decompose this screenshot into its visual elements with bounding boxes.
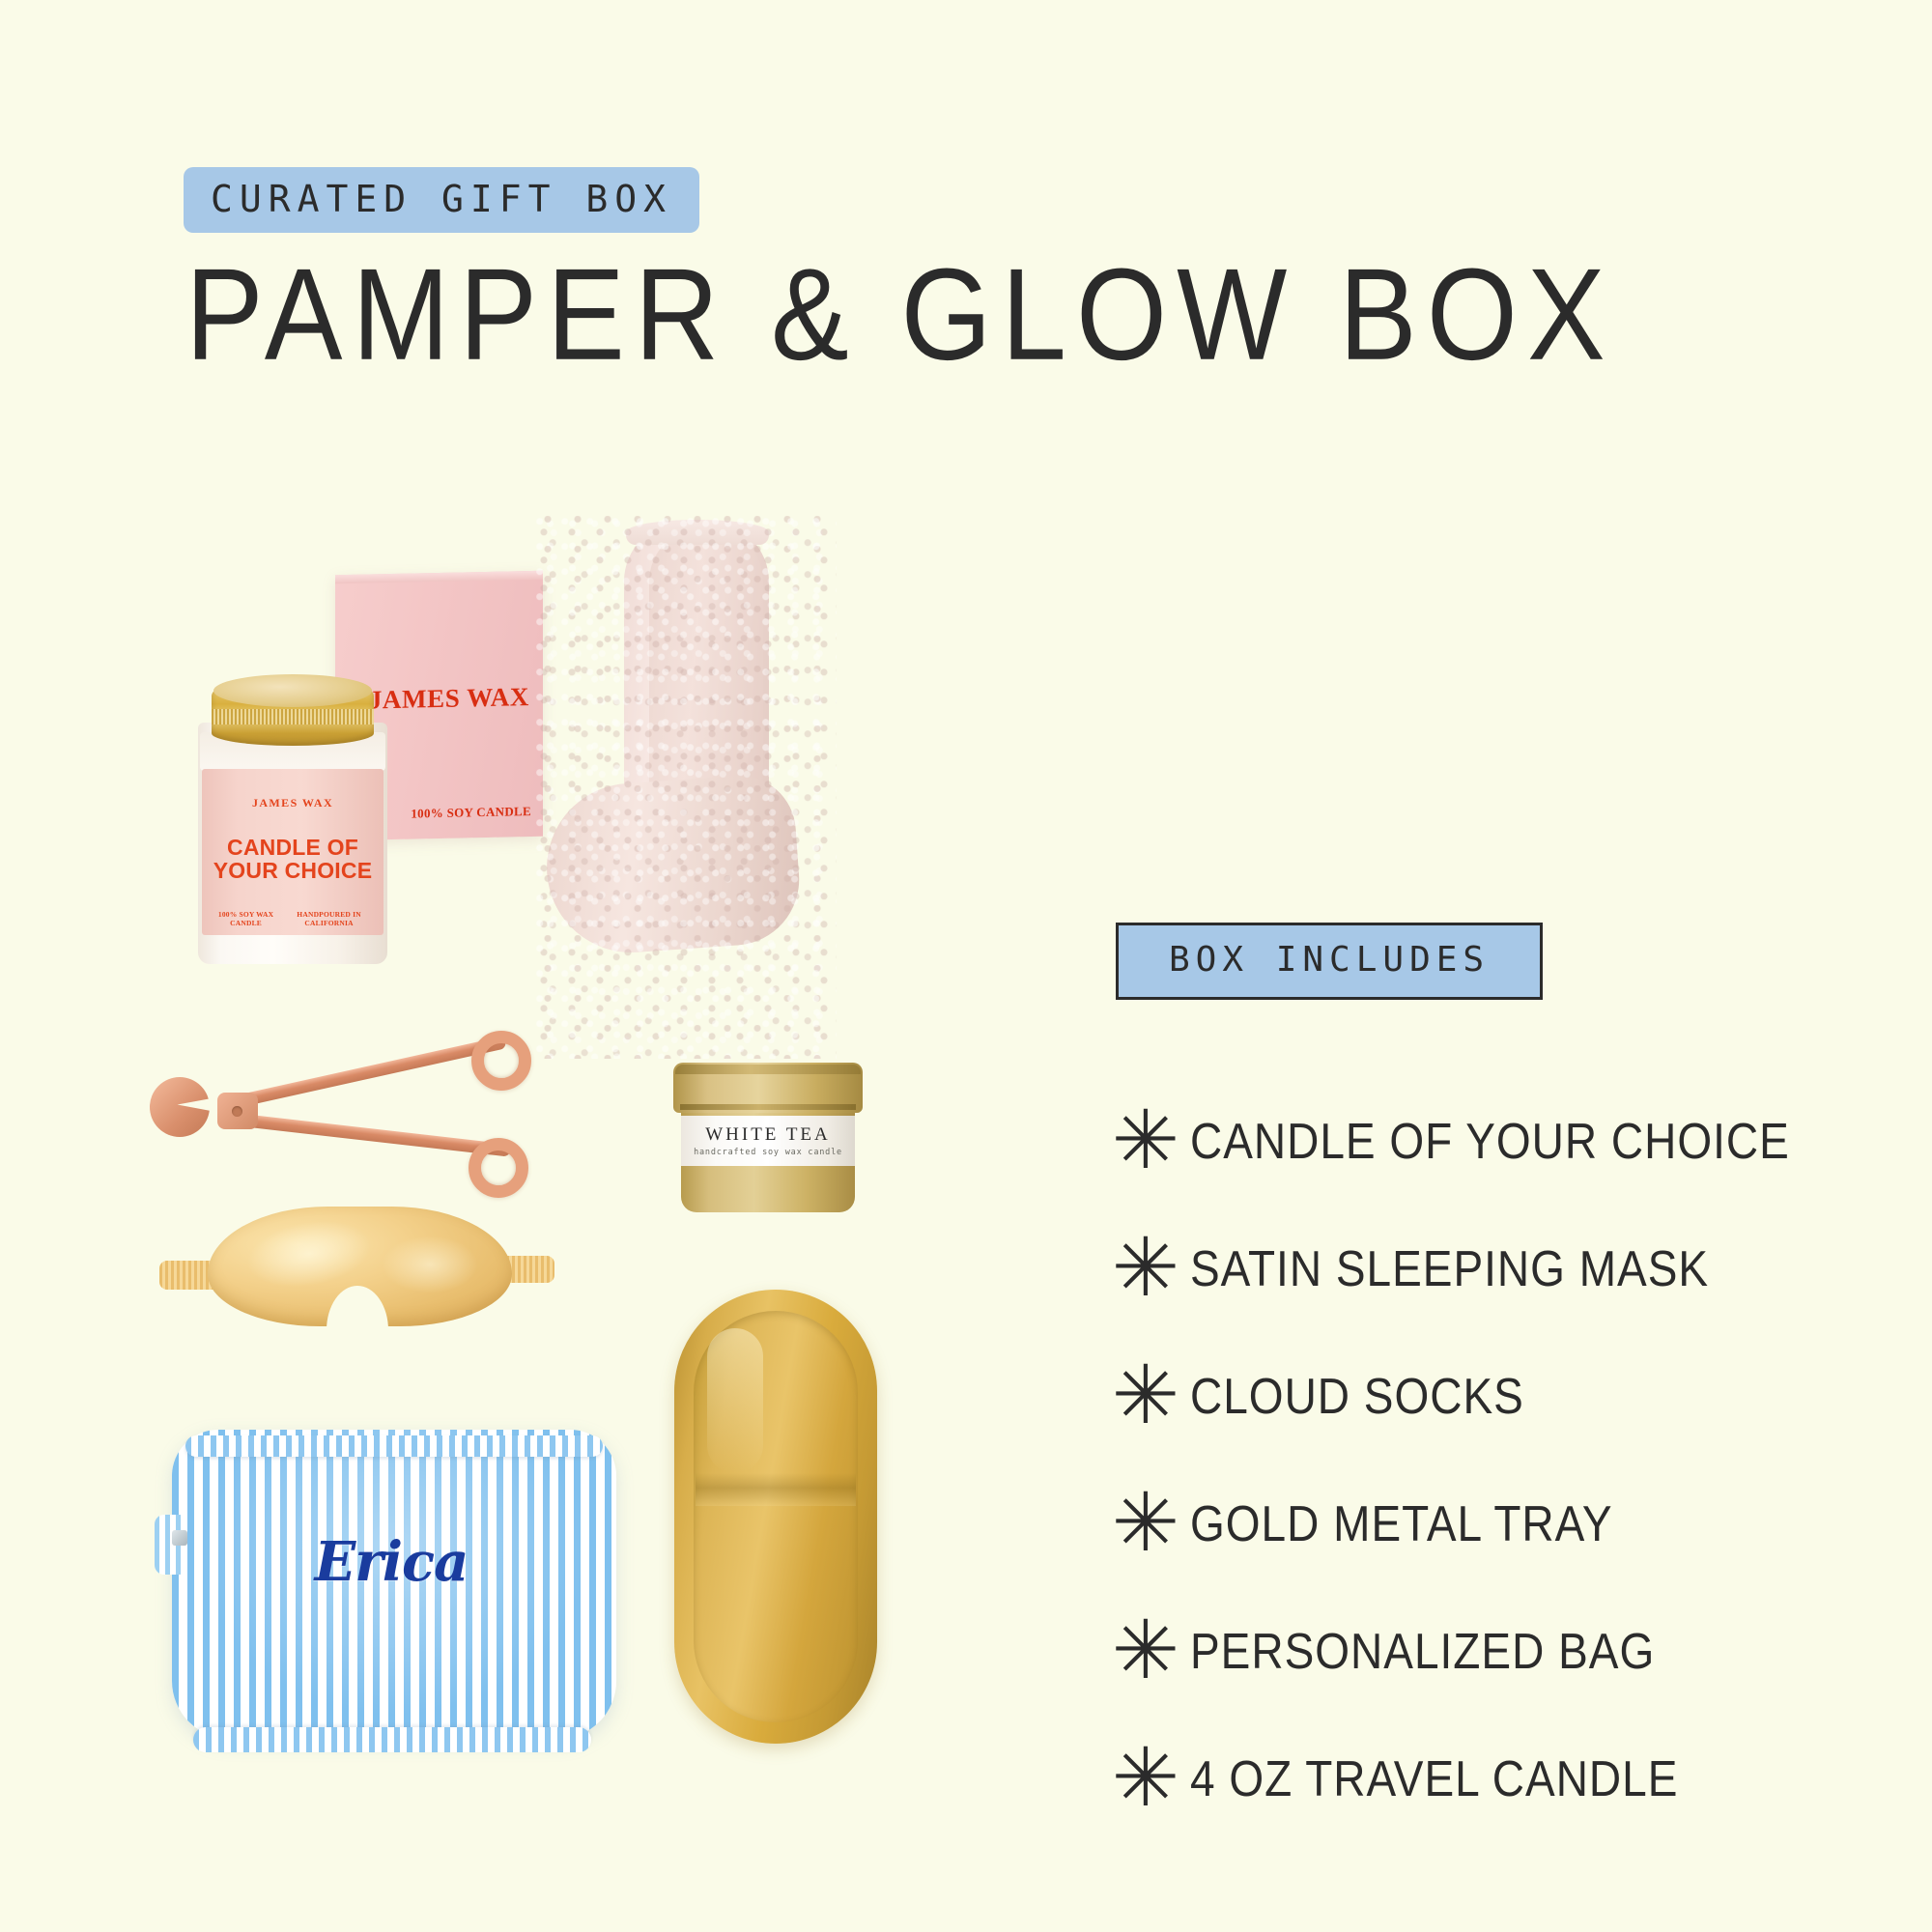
trimmer-pivot-screw bbox=[232, 1106, 242, 1117]
tin-label: WHITE TEA handcrafted soy wax candle bbox=[681, 1116, 855, 1166]
jar-footer-left: 100% SOY WAX CANDLE bbox=[210, 910, 282, 927]
include-item-label: PERSONALIZED BAG bbox=[1190, 1621, 1655, 1679]
box-includes-list: ✳ CANDLE OF YOUR CHOICE ✳ SATIN SLEEPING… bbox=[1101, 1098, 1893, 1820]
jar-label: JAMES WAX CANDLE OF YOUR CHOICE 100% SOY… bbox=[202, 769, 384, 935]
include-item-label: SATIN SLEEPING MASK bbox=[1190, 1238, 1709, 1296]
list-item: ✳ CLOUD SOCKS bbox=[1101, 1353, 1893, 1437]
asterisk-icon: ✳ bbox=[1101, 1366, 1190, 1424]
trimmer-handle-ring-lower bbox=[469, 1138, 528, 1198]
trimmer-handle-ring-upper bbox=[471, 1031, 531, 1091]
asterisk-icon: ✳ bbox=[1101, 1238, 1190, 1296]
satin-sleep-mask bbox=[155, 1203, 560, 1348]
tray-reflection-band bbox=[696, 1473, 856, 1506]
jar-title-line2: YOUR CHOICE bbox=[202, 859, 384, 882]
list-item: ✳ SATIN SLEEPING MASK bbox=[1101, 1226, 1893, 1310]
travel-candle-tin: WHITE TEA handcrafted soy wax candle bbox=[673, 1063, 863, 1222]
box-caption-text: 100% SOY CANDLE bbox=[411, 804, 531, 822]
box-includes-panel: BOX INCLUDES ✳ CANDLE OF YOUR CHOICE ✳ S… bbox=[1101, 923, 1893, 1863]
asterisk-icon: ✳ bbox=[1101, 1493, 1190, 1551]
mask-sheen-right bbox=[382, 1236, 478, 1293]
candle-jar: JAMES WAX CANDLE OF YOUR CHOICE 100% SOY… bbox=[196, 676, 389, 966]
trimmer-arm-lower bbox=[241, 1114, 511, 1157]
tin-lid-rim bbox=[675, 1065, 861, 1074]
trimmer-arm-upper bbox=[231, 1036, 507, 1108]
bag-piping-top bbox=[185, 1435, 603, 1457]
product-collage: JAMES WAX 100% SOY CANDLE JAMES WAX CAND… bbox=[0, 0, 1024, 1932]
tin-seam bbox=[680, 1104, 856, 1110]
trimmer-cutting-head bbox=[150, 1077, 210, 1137]
cloud-socks bbox=[541, 522, 831, 1053]
bag-piping-bottom bbox=[193, 1727, 591, 1752]
include-item-label: CLOUD SOCKS bbox=[1190, 1366, 1524, 1424]
list-item: ✳ CANDLE OF YOUR CHOICE bbox=[1101, 1098, 1893, 1182]
include-item-label: GOLD METAL TRAY bbox=[1190, 1493, 1613, 1551]
list-item: ✳ GOLD METAL TRAY bbox=[1101, 1481, 1893, 1565]
tray-highlight bbox=[707, 1328, 763, 1473]
box-top-edge bbox=[335, 571, 543, 584]
jar-lid-top bbox=[213, 674, 372, 707]
list-item: ✳ 4 OZ TRAVEL CANDLE bbox=[1101, 1736, 1893, 1820]
include-item-label: CANDLE OF YOUR CHOICE bbox=[1190, 1111, 1790, 1169]
sock-foot bbox=[541, 772, 804, 958]
asterisk-icon: ✳ bbox=[1101, 1748, 1190, 1806]
tin-scent-text: WHITE TEA bbox=[705, 1125, 831, 1144]
asterisk-icon: ✳ bbox=[1101, 1621, 1190, 1679]
personalized-bag: Erica bbox=[155, 1430, 628, 1758]
jar-footer-right: HANDPOURED IN CALIFORNIA bbox=[282, 910, 376, 927]
wick-trimmer bbox=[150, 1019, 575, 1212]
sock-cuff bbox=[626, 520, 769, 545]
include-item-label: 4 OZ TRAVEL CANDLE bbox=[1190, 1748, 1678, 1806]
asterisk-icon: ✳ bbox=[1101, 1111, 1190, 1169]
box-includes-header: BOX INCLUDES bbox=[1116, 923, 1543, 1000]
list-item: ✳ PERSONALIZED BAG bbox=[1101, 1608, 1893, 1692]
jar-lid-knurling bbox=[212, 709, 374, 724]
tin-caption-text: handcrafted soy wax candle bbox=[694, 1149, 842, 1157]
jar-footer: 100% SOY WAX CANDLE HANDPOURED IN CALIFO… bbox=[210, 910, 376, 927]
gold-metal-tray bbox=[674, 1290, 877, 1744]
bag-embroidered-name: Erica bbox=[155, 1530, 628, 1594]
jar-title-line1: CANDLE OF bbox=[202, 836, 384, 859]
jar-brand-text: JAMES WAX bbox=[202, 796, 384, 810]
